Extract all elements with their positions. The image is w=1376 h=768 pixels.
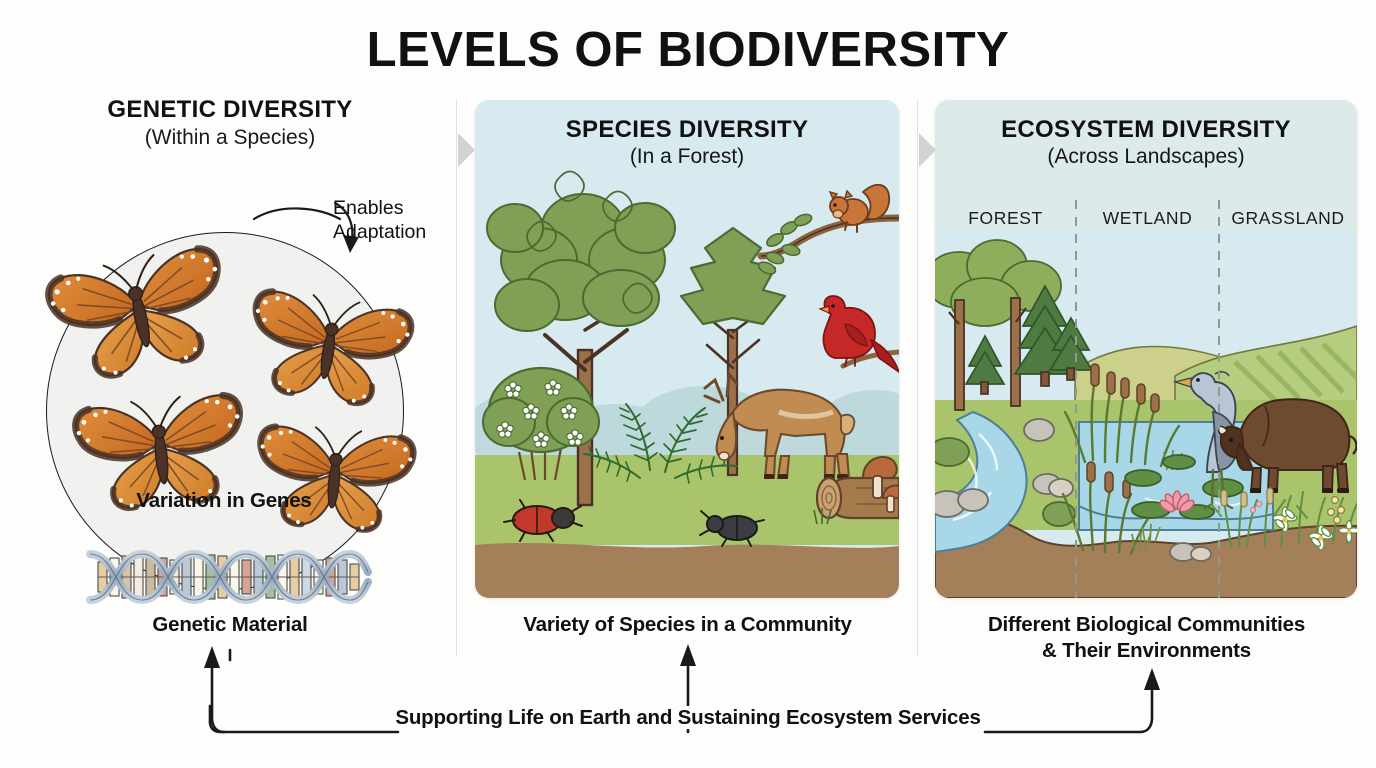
column-divider-2 — [917, 100, 918, 656]
enables-line-2: Adaptation — [333, 221, 426, 243]
column-genetic-diversity: GENETIC DIVERSITY (Within a Species) — [18, 96, 442, 151]
forest-shrub — [935, 438, 969, 466]
dna-double-helix-icon — [86, 544, 372, 610]
eco-zone-label-forest: FOREST — [935, 208, 1076, 229]
eco-caption-line-1: Different Biological Communities — [988, 613, 1305, 636]
species-heading-block: SPECIES DIVERSITY (In a Forest) — [475, 116, 899, 169]
ecosystem-heading-block: ECOSYSTEM DIVERSITY (Across Landscapes) — [935, 116, 1357, 169]
monarch-butterfly-1 — [45, 243, 235, 386]
caption-species-community: Variety of Species in a Community — [475, 612, 900, 638]
bottom-statement: Supporting Life on Earth and Sustaining … — [0, 706, 1376, 730]
panel-species-diversity: SPECIES DIVERSITY (In a Forest) — [475, 100, 899, 598]
genetic-heading: GENETIC DIVERSITY — [18, 96, 442, 124]
soil-layer — [475, 543, 899, 598]
species-heading: SPECIES DIVERSITY — [475, 116, 899, 144]
ecosystem-heading: ECOSYSTEM DIVERSITY — [935, 116, 1357, 144]
chevron-right-icon-2 — [919, 133, 936, 167]
enables-line-1: Enables — [333, 197, 403, 219]
bottom-connector-diagram — [0, 640, 1376, 750]
infographic-root: LEVELS OF BIODIVERSITY GENETIC DIVERSITY… — [0, 0, 1376, 768]
ecosystem-landscape-illustration — [935, 100, 1357, 598]
species-subheading: (In a Forest) — [475, 145, 899, 169]
enables-adaptation-label: Enables Adaptation — [333, 196, 457, 245]
forest-scene-illustration — [475, 100, 899, 598]
chevron-right-icon-1 — [458, 133, 475, 167]
genetic-subheading: (Within a Species) — [18, 125, 442, 150]
monarch-butterfly-4 — [254, 423, 415, 534]
eco-zone-label-grassland: GRASSLAND — [1219, 208, 1357, 229]
genetic-heading-block: GENETIC DIVERSITY (Within a Species) — [18, 96, 442, 151]
panel-ecosystem-diversity: ECOSYSTEM DIVERSITY (Across Landscapes) … — [935, 100, 1357, 598]
monarch-butterfly-2 — [244, 287, 414, 410]
page-title: LEVELS OF BIODIVERSITY — [0, 22, 1376, 78]
variation-in-genes-label: Variation in Genes — [46, 489, 402, 513]
ecosystem-subheading: (Across Landscapes) — [935, 145, 1357, 169]
caption-genetic-material: Genetic Material — [18, 612, 442, 638]
butterflies-illustration — [30, 185, 460, 605]
eco-zone-label-wetland: WETLAND — [1076, 208, 1219, 229]
